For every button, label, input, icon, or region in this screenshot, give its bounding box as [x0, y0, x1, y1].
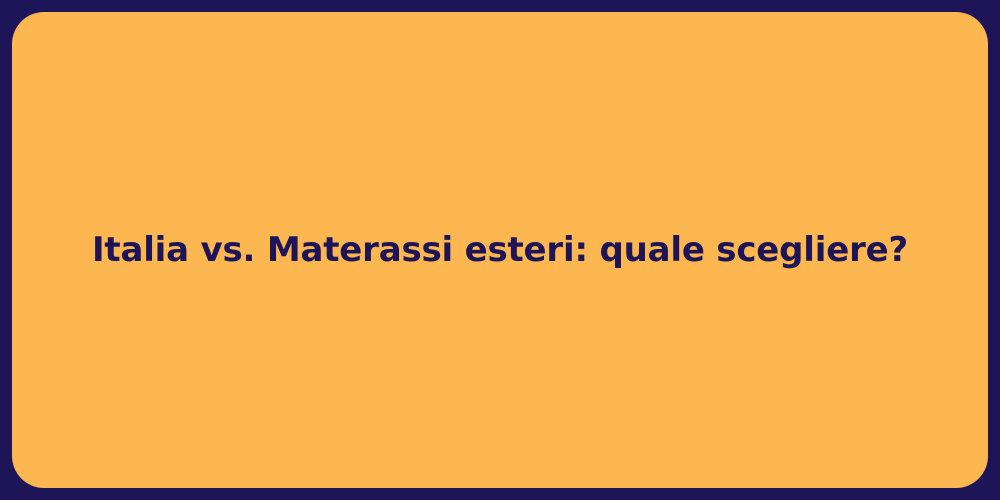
banner-canvas: Italia vs. Materassi esteri: quale scegl… — [0, 0, 1000, 500]
banner-outer-frame: Italia vs. Materassi esteri: quale scegl… — [0, 0, 1000, 500]
banner-headline: Italia vs. Materassi esteri: quale scegl… — [92, 229, 908, 272]
banner-card: Italia vs. Materassi esteri: quale scegl… — [12, 12, 988, 488]
